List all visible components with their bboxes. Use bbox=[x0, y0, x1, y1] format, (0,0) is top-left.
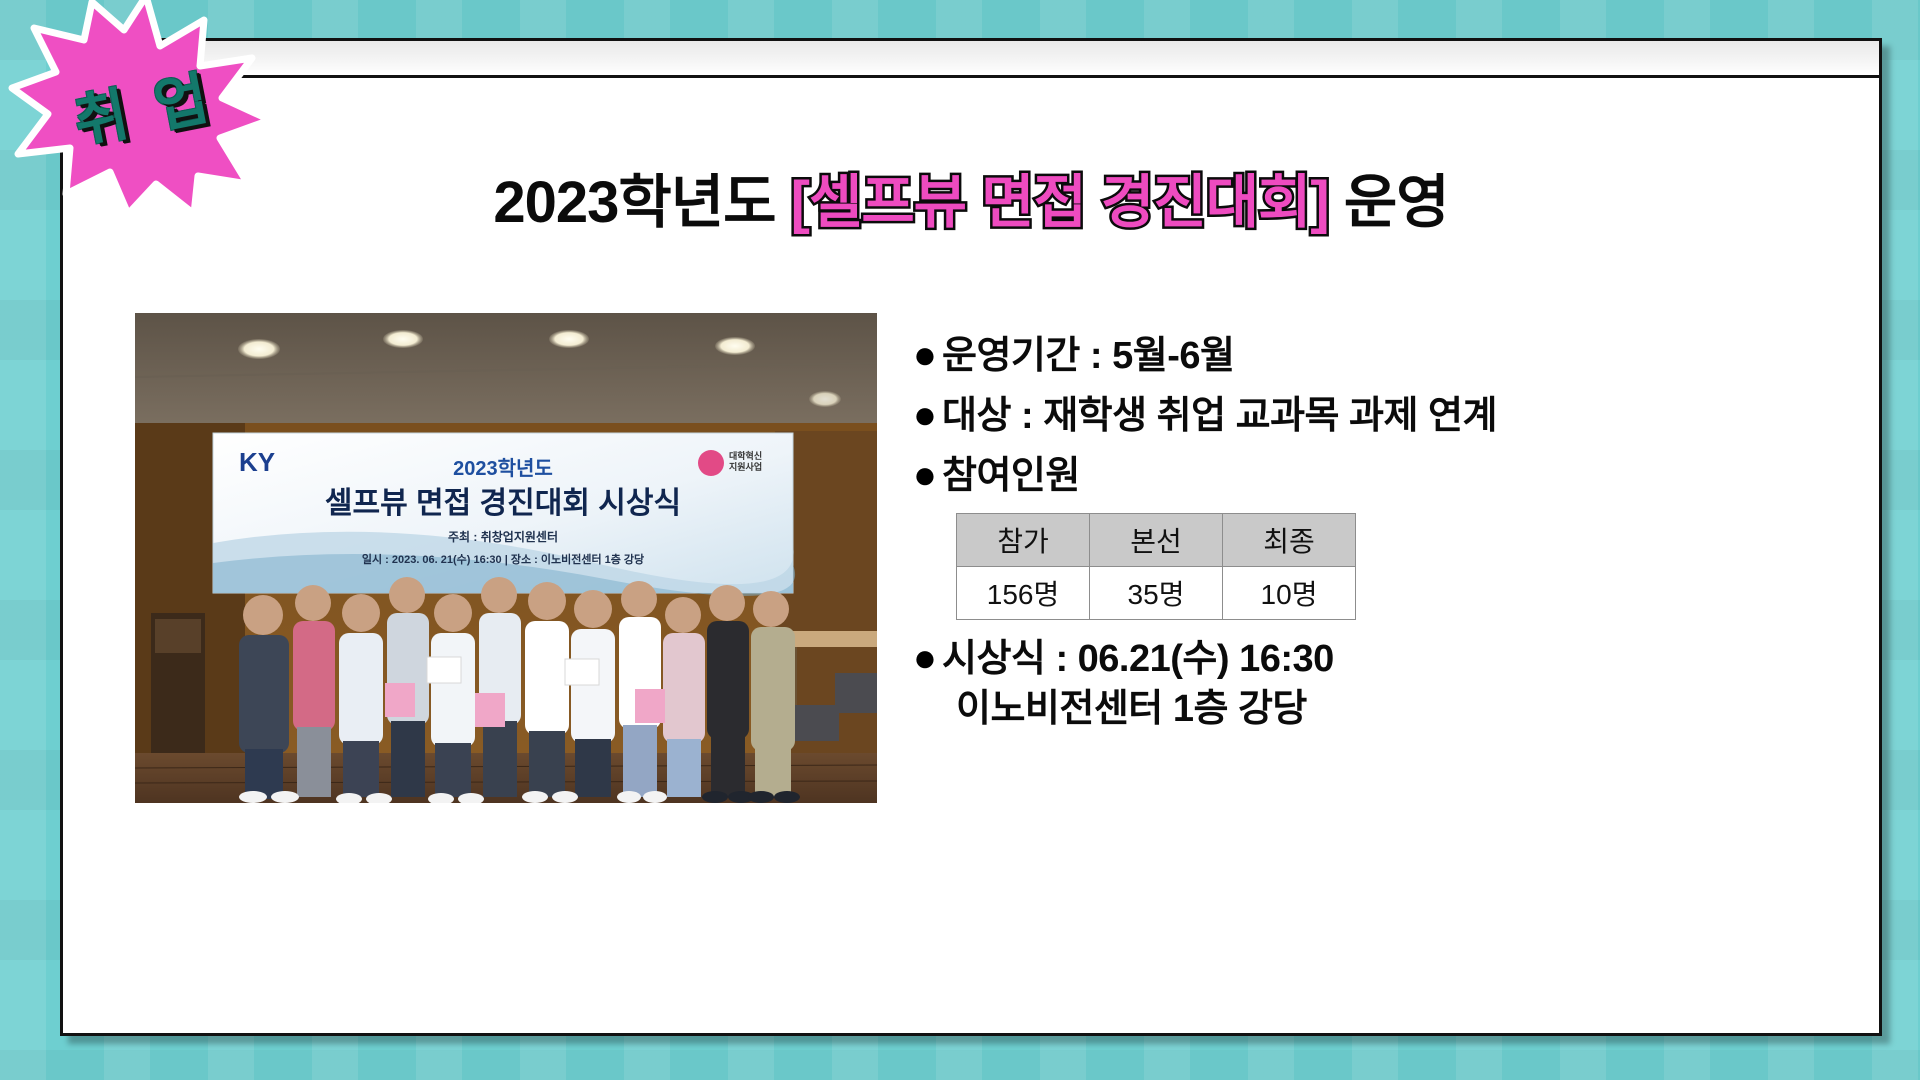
bullet-dot-icon: ● bbox=[908, 451, 942, 499]
title-part-highlight: [셀프뷰 면접 경진대회] bbox=[791, 170, 1329, 235]
table-cell-0-0: 156명 bbox=[957, 567, 1090, 620]
table-cell-0-1: 35명 bbox=[1090, 567, 1223, 620]
card-top-band bbox=[63, 41, 1879, 75]
event-photo: KY 대학혁신 지원사업 2023학년도 셀프뷰 면접 경진대회 시상식 주최 … bbox=[135, 313, 877, 803]
table-header-cell-0: 참가 bbox=[957, 514, 1090, 567]
bullet-dot-icon: ● bbox=[908, 391, 942, 439]
slide-card: 2023학년도 [셀프뷰 면접 경진대회] 운영 bbox=[60, 38, 1882, 1036]
bullet-dot-icon: ● bbox=[908, 634, 942, 682]
bullet-text-target: 대상 : 재학생 취업 교과목 과제 연계 bbox=[942, 391, 1497, 441]
bullet-text-ceremony-group: 시상식 : 06.21(수) 16:30 이노비전센터 1층 강당 bbox=[942, 634, 1334, 734]
svg-text:KY: KY bbox=[239, 447, 275, 477]
table-header-cell-2: 최종 bbox=[1223, 514, 1356, 567]
svg-text:지원사업: 지원사업 bbox=[729, 461, 762, 472]
title-part-suffix: 운영 bbox=[1329, 170, 1449, 235]
bullet-text-participants: 참여인원 bbox=[942, 451, 1080, 501]
event-photo-illustration: KY 대학혁신 지원사업 2023학년도 셀프뷰 면접 경진대회 시상식 주최 … bbox=[135, 313, 877, 803]
slide-root: 2023학년도 [셀프뷰 면접 경진대회] 운영 bbox=[0, 0, 1920, 1080]
list-item: ● 대상 : 재학생 취업 교과목 과제 연계 bbox=[908, 391, 1882, 441]
list-item: ● 참여인원 bbox=[908, 451, 1882, 501]
starburst-badge: 취 업 bbox=[8, 0, 278, 217]
title-part-prefix: 2023학년도 bbox=[493, 170, 790, 235]
svg-text:셀프뷰 면접 경진대회 시상식: 셀프뷰 면접 경진대회 시상식 bbox=[325, 487, 681, 520]
table-cell-0-2: 10명 bbox=[1223, 567, 1356, 620]
svg-text:대학혁신: 대학혁신 bbox=[729, 450, 762, 461]
table-header-row: 참가 본선 최종 bbox=[957, 514, 1356, 567]
starburst-badge-label-wrap: 취 업 bbox=[8, 0, 278, 217]
bullet-text-ceremony-location: 이노비전센터 1층 강당 bbox=[942, 684, 1334, 734]
bullet-dot-icon: ● bbox=[908, 331, 942, 379]
list-item: ● 운영기간 : 5월-6월 bbox=[908, 331, 1882, 381]
participants-table-wrapper: 참가 본선 최종 156명 35명 10명 bbox=[956, 513, 1882, 620]
table-header-cell-1: 본선 bbox=[1090, 514, 1223, 567]
card-top-divider bbox=[63, 75, 1879, 78]
page-title: 2023학년도 [셀프뷰 면접 경진대회] 운영 bbox=[63, 171, 1879, 235]
list-item: ● 시상식 : 06.21(수) 16:30 이노비전센터 1층 강당 bbox=[908, 634, 1882, 734]
table-row: 156명 35명 10명 bbox=[957, 567, 1356, 620]
bullet-text-ceremony: 시상식 : 06.21(수) 16:30 bbox=[942, 634, 1334, 684]
bullet-text-period: 운영기간 : 5월-6월 bbox=[942, 331, 1234, 381]
starburst-badge-label: 취 업 bbox=[66, 50, 220, 159]
svg-text:일시 : 2023. 06. 21(수) 16:30: 일시 : 2023. 06. 21(수) 16:30 | 장소 : 이노비전센터… bbox=[362, 552, 644, 566]
svg-text:2023학년도: 2023학년도 bbox=[453, 457, 553, 480]
participants-table: 참가 본선 최종 156명 35명 10명 bbox=[956, 513, 1356, 620]
svg-text:주최 : 취창업지원센터: 주최 : 취창업지원센터 bbox=[448, 529, 558, 544]
content-list: ● 운영기간 : 5월-6월 ● 대상 : 재학생 취업 교과목 과제 연계 ●… bbox=[908, 331, 1882, 744]
